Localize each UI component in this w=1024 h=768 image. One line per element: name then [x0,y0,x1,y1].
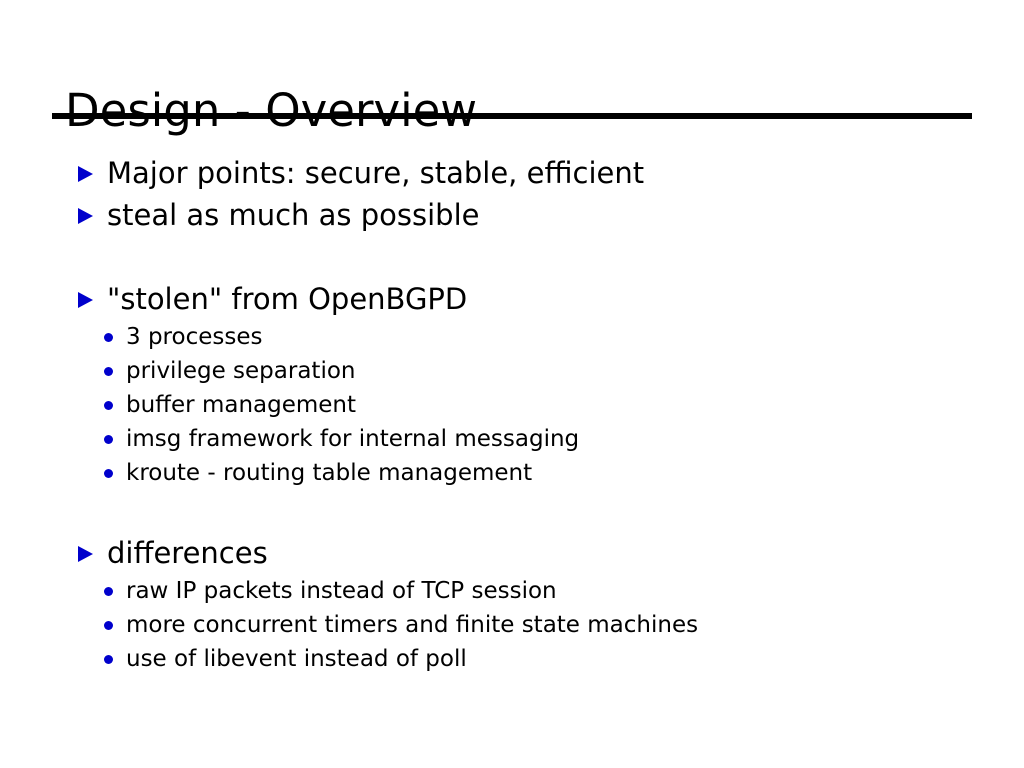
bullet-text: imsg framework for internal messaging [126,422,579,456]
bullet-item-level2: 3 processes [0,320,1024,354]
dot-bullet-icon [104,469,113,478]
bullet-item-level2: privilege separation [0,354,1024,388]
bullet-item-level2: use of libevent instead of poll [0,642,1024,676]
dot-bullet-icon [104,435,113,444]
dot-bullet-icon [104,621,113,630]
bullet-text: more concurrent timers and finite state … [126,608,698,642]
bullet-text: buffer management [126,388,356,422]
bullet-item-level2: raw IP packets instead of TCP session [0,574,1024,608]
dot-bullet-icon [104,333,113,342]
bullet-item-level1: "stolen" from OpenBGPD [0,278,1024,320]
bullet-text: steal as much as possible [107,194,479,236]
bullet-text: Major points: secure, stable, efficient [107,152,644,194]
bullet-text: raw IP packets instead of TCP session [126,574,557,608]
bullet-item-level2: kroute - routing table management [0,456,1024,490]
bullet-item-level1: differences [0,532,1024,574]
slide-title: Design - Overview [65,85,477,137]
bullet-text: differences [107,532,268,574]
dot-bullet-icon [104,401,113,410]
bullet-text: use of libevent instead of poll [126,642,467,676]
dot-bullet-icon [104,587,113,596]
slide-body-content: Major points: secure, stable, efficients… [0,152,1024,676]
dot-bullet-icon [104,367,113,376]
triangle-right-bullet-icon [78,546,93,562]
bullet-text: 3 processes [126,320,262,354]
triangle-right-bullet-icon [78,292,93,308]
presentation-slide: Design - Overview Major points: secure, … [0,0,1024,768]
bullet-item-level2: more concurrent timers and finite state … [0,608,1024,642]
bullet-text: privilege separation [126,354,355,388]
triangle-right-bullet-icon [78,166,93,182]
title-underline-rule [52,113,972,119]
triangle-right-bullet-icon [78,208,93,224]
bullet-text: kroute - routing table management [126,456,532,490]
bullet-item-level1: steal as much as possible [0,194,1024,236]
bullet-text: "stolen" from OpenBGPD [107,278,467,320]
dot-bullet-icon [104,655,113,664]
bullet-spacer [0,490,1024,532]
bullet-spacer [0,236,1024,278]
bullet-item-level2: imsg framework for internal messaging [0,422,1024,456]
bullet-item-level1: Major points: secure, stable, efficient [0,152,1024,194]
bullet-item-level2: buffer management [0,388,1024,422]
